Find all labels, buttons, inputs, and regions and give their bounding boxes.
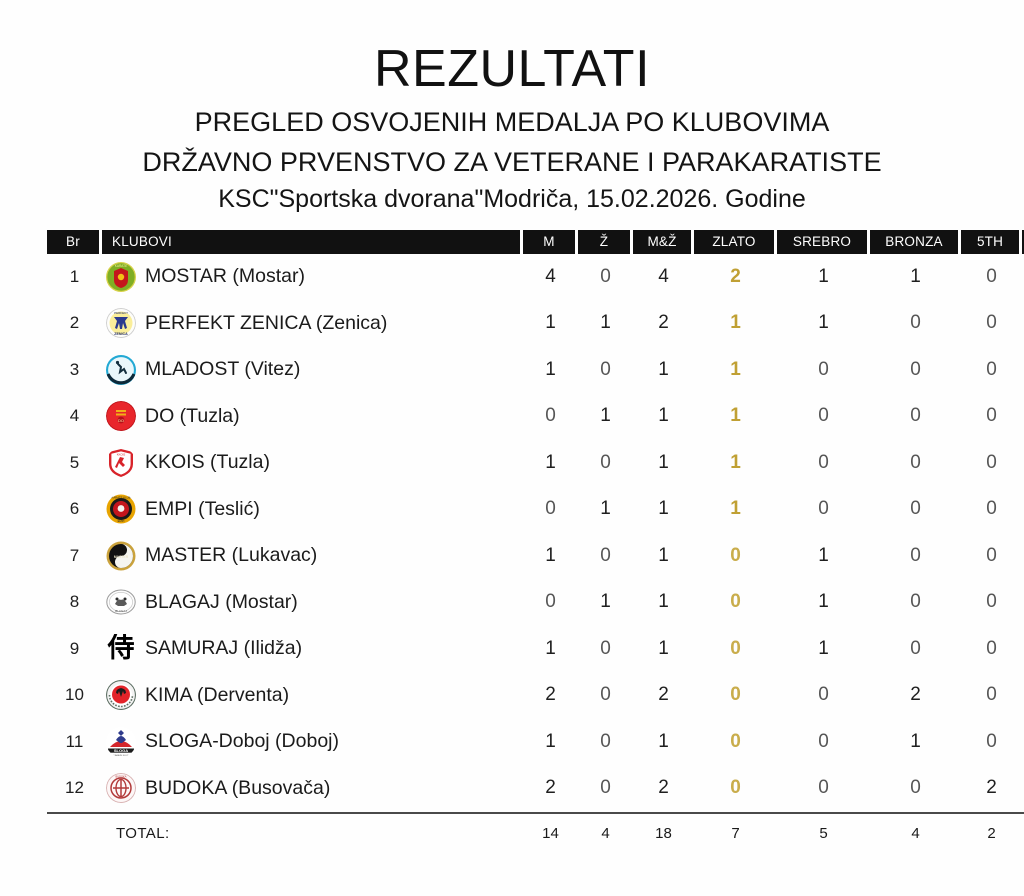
table-row[interactable]: 4DODO (Tuzla)01110003: [47, 393, 1024, 440]
cell-mz: 2: [633, 672, 694, 719]
value-fifth: 0: [986, 498, 997, 519]
cell-m: 0: [523, 579, 578, 626]
perfekt-logo: ZENICAPERFEKT: [106, 308, 136, 338]
svg-text:KARATE: KARATE: [115, 264, 128, 268]
table-header: Br KLUBOVI M Ž M&Ž ZLATO SREBRO BRONZA 5…: [47, 230, 1024, 254]
value-m: 0: [545, 498, 556, 519]
column-header-mz[interactable]: M&Ž: [633, 230, 694, 254]
cell-fifth: 0: [961, 719, 1022, 766]
cell-rank: 6: [47, 486, 102, 533]
club-cell: KKOISKKOIS (Tuzla): [102, 448, 523, 478]
cell-zlato: 0: [694, 579, 777, 626]
value-bronza: 0: [910, 545, 921, 566]
cell-rank: 8: [47, 579, 102, 626]
value-mz: 1: [658, 545, 669, 566]
value-fifth: 0: [986, 405, 997, 426]
value-m: 1: [545, 359, 556, 380]
total-row: TOTAL:144187542: [47, 814, 1024, 854]
cell-bronza: 0: [870, 300, 961, 347]
master-logo: MASTER: [106, 541, 136, 571]
page-title: REZULTATI: [0, 42, 1024, 97]
cell-z: 0: [578, 672, 633, 719]
value-srebro: 1: [818, 266, 829, 287]
value-bronza: 1: [910, 731, 921, 752]
value-bronza: 0: [910, 452, 921, 473]
svg-text:SLOGA: SLOGA: [114, 748, 128, 753]
value-srebro: 0: [818, 405, 829, 426]
cell-z: 0: [578, 347, 633, 394]
club-name: MASTER (Lukavac): [145, 544, 317, 567]
cell-zlato: 0: [694, 626, 777, 673]
cell-m: 1: [523, 626, 578, 673]
club-cell: BLAGAJBLAGAJ (Mostar): [102, 587, 523, 617]
club-name: MLADOST (Vitez): [145, 358, 300, 381]
cell-zlato: 0: [694, 672, 777, 719]
club-name: BUDOKA (Busovača): [145, 777, 330, 800]
cell-club: BLAGAJBLAGAJ (Mostar): [102, 579, 523, 626]
cell-rank: 12: [47, 765, 102, 812]
svg-text:KARATE KLUB: KARATE KLUB: [111, 496, 130, 500]
value-bronza: 0: [910, 312, 921, 333]
cell-rank: 2: [47, 300, 102, 347]
value-bronza: 0: [910, 591, 921, 612]
svg-text:BUDOKA: BUDOKA: [116, 775, 127, 779]
cell-bronza: 0: [870, 347, 961, 394]
cell-club: MASTERMASTER (Lukavac): [102, 533, 523, 580]
cell-rank: 4: [47, 393, 102, 440]
table-row[interactable]: 5KKOISKKOIS (Tuzla)10110003: [47, 440, 1024, 487]
cell-fifth: 0: [961, 626, 1022, 673]
total-zlato: 7: [694, 814, 777, 854]
value-fifth: 0: [986, 359, 997, 380]
mladost-logo: [106, 355, 136, 385]
kima-logo: [106, 680, 136, 710]
club-name: SLOGA-Doboj (Doboj): [145, 730, 339, 753]
value-bronza: 2: [910, 684, 921, 705]
value-m: 1: [545, 638, 556, 659]
value-z: 0: [600, 638, 611, 659]
value-zlato: 1: [730, 498, 741, 519]
cell-m: 4: [523, 254, 578, 301]
cell-bronza: 0: [870, 393, 961, 440]
value-m: 2: [545, 777, 556, 798]
cell-bronza: 0: [870, 486, 961, 533]
cell-rank: 1: [47, 254, 102, 301]
cell-srebro: 0: [777, 347, 870, 394]
cell-m: 1: [523, 719, 578, 766]
cell-z: 1: [578, 393, 633, 440]
cell-m: 1: [523, 533, 578, 580]
value-zlato: 0: [730, 638, 741, 659]
value-mz: 2: [658, 684, 669, 705]
cell-z: 0: [578, 626, 633, 673]
value-zlato: 1: [730, 452, 741, 473]
cell-zlato: 1: [694, 393, 777, 440]
club-cell: MASTERMASTER (Lukavac): [102, 541, 523, 571]
mostar-logo: KARATE: [106, 262, 136, 292]
club-name: KIMA (Derventa): [145, 684, 289, 707]
value-srebro: 1: [818, 312, 829, 333]
kkois-logo: KKOIS: [106, 448, 136, 478]
table-row[interactable]: 3MLADOST (Vitez)10110003: [47, 347, 1024, 394]
value-mz: 2: [658, 312, 669, 333]
cell-m: 1: [523, 347, 578, 394]
total-spacer: [47, 814, 102, 854]
club-cell: SLOGAKARATE KLUBSLOGA-Doboj (Doboj): [102, 727, 523, 757]
value-bronza: 0: [910, 777, 921, 798]
svg-text:DO: DO: [118, 418, 124, 423]
club-name: SAMURAJ (Ilidža): [145, 637, 302, 660]
cell-m: 2: [523, 765, 578, 812]
cell-fifth: 2: [961, 765, 1022, 812]
cell-club: 侍SAMURAJ (Ilidža): [102, 626, 523, 673]
value-mz: 1: [658, 452, 669, 473]
cell-club: SLOGAKARATE KLUBSLOGA-Doboj (Doboj): [102, 719, 523, 766]
value-fifth: 0: [986, 452, 997, 473]
table-row[interactable]: 7MASTERMASTER (Lukavac)10101002: [47, 533, 1024, 580]
club-cell: KARATE KLUBEMPIEMPI (Teslić): [102, 494, 523, 524]
cell-club: KARATE KLUBEMPIEMPI (Teslić): [102, 486, 523, 533]
cell-fifth: 0: [961, 486, 1022, 533]
table-row[interactable]: 10KIMA (Derventa)20200202: [47, 672, 1024, 719]
value-bronza: 1: [910, 266, 921, 287]
cell-club: KKOISKKOIS (Tuzla): [102, 440, 523, 487]
cell-srebro: 1: [777, 579, 870, 626]
cell-srebro: 1: [777, 626, 870, 673]
cell-m: 2: [523, 672, 578, 719]
cell-mz: 1: [633, 579, 694, 626]
cell-fifth: 0: [961, 672, 1022, 719]
cell-club: ZENICAPERFEKTPERFEKT ZENICA (Zenica): [102, 300, 523, 347]
cell-bronza: 0: [870, 440, 961, 487]
value-z: 0: [600, 359, 611, 380]
club-cell: BUDOKABUDOKA (Busovača): [102, 773, 523, 803]
svg-text:ZENICA: ZENICA: [114, 332, 128, 336]
column-header-br[interactable]: Br: [47, 230, 102, 254]
value-zlato: 1: [730, 312, 741, 333]
svg-text:KARATE KLUB: KARATE KLUB: [114, 754, 129, 757]
table-row[interactable]: 6KARATE KLUBEMPIEMPI (Teslić)01110003: [47, 486, 1024, 533]
club-cell: ZENICAPERFEKTPERFEKT ZENICA (Zenica): [102, 308, 523, 338]
club-name: MOSTAR (Mostar): [145, 265, 305, 288]
cell-zlato: 2: [694, 254, 777, 301]
value-fifth: 0: [986, 638, 997, 659]
cell-mz: 1: [633, 533, 694, 580]
cell-srebro: 0: [777, 393, 870, 440]
cell-zlato: 1: [694, 300, 777, 347]
value-m: 1: [545, 312, 556, 333]
club-cell: KARATEMOSTAR (Mostar): [102, 262, 523, 292]
total-label: TOTAL:: [102, 814, 523, 854]
value-z: 1: [600, 312, 611, 333]
cell-mz: 1: [633, 626, 694, 673]
cell-z: 1: [578, 486, 633, 533]
value-z: 1: [600, 498, 611, 519]
club-name: KKOIS (Tuzla): [145, 451, 270, 474]
value-fifth: 0: [986, 266, 997, 287]
page-venue-date: KSC"Sportska dvorana"Modriča, 15.02.2026…: [0, 185, 1024, 214]
value-m: 4: [545, 266, 556, 287]
value-zlato: 0: [730, 545, 741, 566]
value-srebro: 0: [818, 731, 829, 752]
value-mz: 1: [658, 638, 669, 659]
value-srebro: 0: [818, 684, 829, 705]
value-zlato: 0: [730, 684, 741, 705]
cell-m: 0: [523, 486, 578, 533]
cell-bronza: 1: [870, 254, 961, 301]
value-z: 0: [600, 266, 611, 287]
value-bronza: 0: [910, 498, 921, 519]
value-z: 0: [600, 777, 611, 798]
cell-z: 1: [578, 579, 633, 626]
blagaj-logo: BLAGAJ: [106, 587, 136, 617]
column-header-m[interactable]: M: [523, 230, 578, 254]
table-header-row: Br KLUBOVI M Ž M&Ž ZLATO SREBRO BRONZA 5…: [47, 230, 1024, 254]
cell-mz: 1: [633, 719, 694, 766]
page-subtitle-1: PREGLED OSVOJENIH MEDALJA PO KLUBOVIMA: [0, 107, 1024, 138]
total-m: 14: [523, 814, 578, 854]
empi-logo: KARATE KLUBEMPI: [106, 494, 136, 524]
value-srebro: 1: [818, 638, 829, 659]
total-fifth: 2: [961, 814, 1022, 854]
cell-bronza: 1: [870, 719, 961, 766]
cell-fifth: 0: [961, 533, 1022, 580]
svg-text:BLAGAJ: BLAGAJ: [115, 609, 127, 613]
cell-bronza: 2: [870, 672, 961, 719]
value-z: 0: [600, 731, 611, 752]
value-bronza: 0: [910, 638, 921, 659]
value-m: 1: [545, 545, 556, 566]
table-body: 1KARATEMOSTAR (Mostar)404211092ZENICAPER…: [47, 254, 1024, 854]
value-m: 0: [545, 591, 556, 612]
club-cell: 侍SAMURAJ (Ilidža): [102, 634, 523, 664]
value-zlato: 0: [730, 777, 741, 798]
cell-rank: 9: [47, 626, 102, 673]
value-mz: 4: [658, 266, 669, 287]
value-fifth: 2: [986, 777, 997, 798]
cell-zlato: 0: [694, 533, 777, 580]
cell-m: 0: [523, 393, 578, 440]
svg-text:KKOIS: KKOIS: [117, 452, 126, 456]
value-m: 2: [545, 684, 556, 705]
cell-club: KARATEMOSTAR (Mostar): [102, 254, 523, 301]
cell-fifth: 0: [961, 579, 1022, 626]
cell-club: KIMA (Derventa): [102, 672, 523, 719]
cell-m: 1: [523, 300, 578, 347]
cell-mz: 1: [633, 347, 694, 394]
value-fifth: 0: [986, 591, 997, 612]
svg-text:PERFEKT: PERFEKT: [114, 312, 128, 316]
cell-fifth: 0: [961, 393, 1022, 440]
cell-srebro: 1: [777, 254, 870, 301]
value-mz: 1: [658, 591, 669, 612]
cell-z: 1: [578, 300, 633, 347]
do-logo: DO: [106, 401, 136, 431]
cell-z: 0: [578, 254, 633, 301]
cell-srebro: 0: [777, 440, 870, 487]
cell-zlato: 0: [694, 719, 777, 766]
cell-z: 0: [578, 440, 633, 487]
club-cell: MLADOST (Vitez): [102, 355, 523, 385]
results-table-container: Br KLUBOVI M Ž M&Ž ZLATO SREBRO BRONZA 5…: [47, 230, 977, 854]
table-row[interactable]: 11SLOGAKARATE KLUBSLOGA-Doboj (Doboj)101…: [47, 719, 1024, 766]
table-row[interactable]: 1KARATEMOSTAR (Mostar)40421109: [47, 254, 1024, 301]
club-name: EMPI (Teslić): [145, 498, 260, 521]
cell-mz: 4: [633, 254, 694, 301]
value-srebro: 0: [818, 777, 829, 798]
cell-bronza: 0: [870, 579, 961, 626]
cell-mz: 1: [633, 393, 694, 440]
cell-fifth: 0: [961, 347, 1022, 394]
value-fifth: 0: [986, 545, 997, 566]
column-header-z[interactable]: Ž: [578, 230, 633, 254]
cell-fifth: 0: [961, 300, 1022, 347]
cell-club: DODO (Tuzla): [102, 393, 523, 440]
cell-fifth: 0: [961, 440, 1022, 487]
column-header-srebro[interactable]: SREBRO: [777, 230, 870, 254]
cell-z: 0: [578, 533, 633, 580]
value-fifth: 0: [986, 731, 997, 752]
value-m: 0: [545, 405, 556, 426]
total-mz: 18: [633, 814, 694, 854]
results-table: Br KLUBOVI M Ž M&Ž ZLATO SREBRO BRONZA 5…: [47, 230, 1024, 854]
table-row[interactable]: 8BLAGAJBLAGAJ (Mostar)01101002: [47, 579, 1024, 626]
value-srebro: 1: [818, 545, 829, 566]
value-z: 0: [600, 684, 611, 705]
value-fifth: 0: [986, 684, 997, 705]
table-row[interactable]: 12BUDOKABUDOKA (Busovača)20200020: [47, 765, 1024, 812]
value-zlato: 0: [730, 731, 741, 752]
page-header: REZULTATI PREGLED OSVOJENIH MEDALJA PO K…: [0, 0, 1024, 214]
svg-text:EMPI: EMPI: [118, 519, 125, 523]
cell-srebro: 0: [777, 672, 870, 719]
value-mz: 1: [658, 498, 669, 519]
cell-rank: 10: [47, 672, 102, 719]
cell-z: 0: [578, 765, 633, 812]
value-bronza: 0: [910, 405, 921, 426]
value-srebro: 0: [818, 498, 829, 519]
cell-srebro: 1: [777, 300, 870, 347]
column-header-zlato[interactable]: ZLATO: [694, 230, 777, 254]
value-srebro: 0: [818, 452, 829, 473]
cell-srebro: 1: [777, 533, 870, 580]
value-z: 1: [600, 591, 611, 612]
cell-srebro: 0: [777, 486, 870, 533]
value-m: 1: [545, 452, 556, 473]
value-srebro: 1: [818, 591, 829, 612]
total-bronza: 4: [870, 814, 961, 854]
column-header-bronza[interactable]: BRONZA: [870, 230, 961, 254]
table-row[interactable]: 2ZENICAPERFEKTPERFEKT ZENICA (Zenica)112…: [47, 300, 1024, 347]
cell-m: 1: [523, 440, 578, 487]
cell-srebro: 0: [777, 719, 870, 766]
column-header-5th[interactable]: 5TH: [961, 230, 1022, 254]
results-page: REZULTATI PREGLED OSVOJENIH MEDALJA PO K…: [0, 0, 1024, 896]
column-header-klubovi[interactable]: KLUBOVI: [102, 230, 523, 254]
cell-fifth: 0: [961, 254, 1022, 301]
cell-rank: 3: [47, 347, 102, 394]
cell-bronza: 0: [870, 533, 961, 580]
club-name: DO (Tuzla): [145, 405, 240, 428]
club-cell: KIMA (Derventa): [102, 680, 523, 710]
cell-mz: 2: [633, 300, 694, 347]
page-subtitle-2: DRŽAVNO PRVENSTVO ZA VETERANE I PARAKARA…: [0, 147, 1024, 178]
value-zlato: 1: [730, 405, 741, 426]
budoka-logo: BUDOKA: [106, 773, 136, 803]
sloga-logo: SLOGAKARATE KLUB: [106, 727, 136, 757]
value-mz: 1: [658, 405, 669, 426]
cell-rank: 11: [47, 719, 102, 766]
value-z: 1: [600, 405, 611, 426]
value-fifth: 0: [986, 312, 997, 333]
value-zlato: 1: [730, 359, 741, 380]
cell-mz: 1: [633, 440, 694, 487]
value-mz: 1: [658, 731, 669, 752]
club-name: BLAGAJ (Mostar): [145, 591, 298, 614]
value-m: 1: [545, 731, 556, 752]
cell-bronza: 0: [870, 765, 961, 812]
value-z: 0: [600, 452, 611, 473]
total-srebro: 5: [777, 814, 870, 854]
value-zlato: 0: [730, 591, 741, 612]
cell-club: BUDOKABUDOKA (Busovača): [102, 765, 523, 812]
cell-club: MLADOST (Vitez): [102, 347, 523, 394]
cell-mz: 1: [633, 486, 694, 533]
club-name: PERFEKT ZENICA (Zenica): [145, 312, 387, 335]
cell-zlato: 1: [694, 347, 777, 394]
club-cell: DODO (Tuzla): [102, 401, 523, 431]
total-z: 4: [578, 814, 633, 854]
value-mz: 1: [658, 359, 669, 380]
table-row[interactable]: 9侍SAMURAJ (Ilidža)10101002: [47, 626, 1024, 673]
svg-text:MASTER: MASTER: [114, 555, 129, 559]
samuraj-logo: 侍: [106, 634, 136, 664]
cell-srebro: 0: [777, 765, 870, 812]
cell-rank: 7: [47, 533, 102, 580]
cell-rank: 5: [47, 440, 102, 487]
value-z: 0: [600, 545, 611, 566]
value-mz: 2: [658, 777, 669, 798]
cell-zlato: 0: [694, 765, 777, 812]
cell-zlato: 1: [694, 486, 777, 533]
cell-mz: 2: [633, 765, 694, 812]
cell-bronza: 0: [870, 626, 961, 673]
value-zlato: 2: [730, 266, 741, 287]
value-bronza: 0: [910, 359, 921, 380]
cell-zlato: 1: [694, 440, 777, 487]
value-srebro: 0: [818, 359, 829, 380]
cell-z: 0: [578, 719, 633, 766]
